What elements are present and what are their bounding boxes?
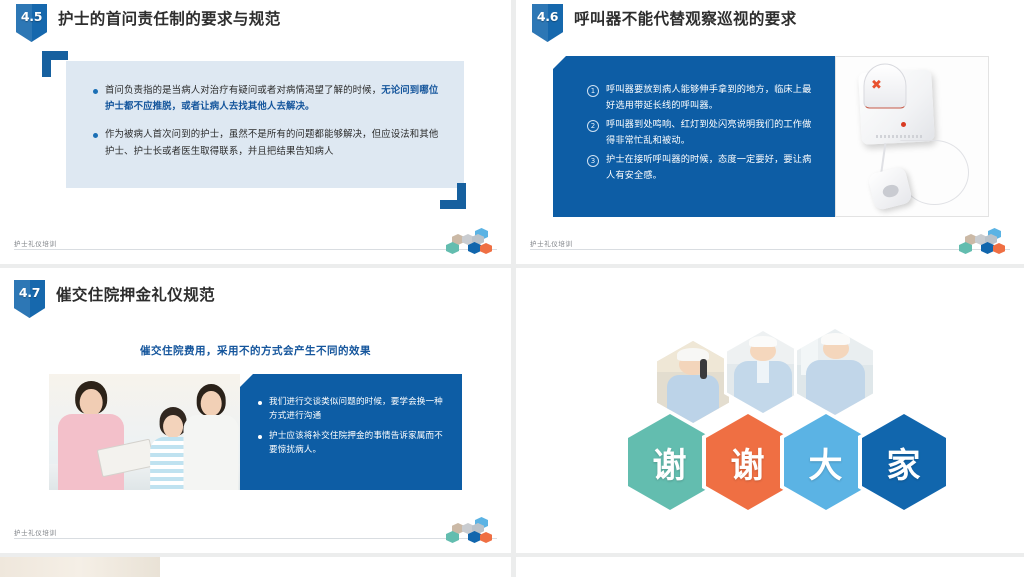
- list-item: 作为被病人首次问到的护士，虽然不是所有的问题都能够解决，但应设法和其他护士、护士…: [92, 127, 440, 159]
- corner-fold-decoration: [553, 56, 566, 69]
- thanks-hex-char: 谢: [706, 414, 790, 510]
- thanks-hex-char: 家: [862, 414, 946, 510]
- corner-bracket-top-left: [42, 51, 68, 77]
- bullet-list: 首问负责指的是当病人对治疗有疑问或者对病情渴望了解的时候，无论问到哪位护士都不应…: [92, 83, 440, 172]
- page-title: 呼叫器不能代替观察巡视的要求: [574, 7, 797, 29]
- slide-4-7[interactable]: 4.7 催交住院押金礼仪规范 催交住院费用，采用不的方式会产生不同的效果: [0, 268, 511, 553]
- thanks-hex-4: 家: [858, 410, 950, 514]
- slide-4-6[interactable]: 4.6 呼叫器不能代替观察巡视的要求 呼叫器要放到病人能够伸手拿到的地方，临床上…: [516, 0, 1024, 264]
- numbered-panel: 呼叫器要放到病人能够伸手拿到的地方，临床上最好选用带延长线的呼叫器。 呼叫器到处…: [553, 56, 835, 217]
- list-item: 护士在接听呼叫器的时候，态度一定要好，要让病人有安全感。: [587, 152, 817, 184]
- page-title: 催交住院押金礼仪规范: [56, 283, 215, 305]
- advice-panel: 我们进行交谈类似问题的时候，要学会换一种方式进行沟通 护士应该将补交住院押金的事…: [240, 374, 462, 490]
- preview-thumbnail: [0, 557, 160, 577]
- footer-divider: [14, 538, 497, 539]
- bullet-lead: 首问负责指的是当病人对治疗有疑问或者对病情渴望了解的时候，: [105, 85, 381, 96]
- bullet-list: 我们进行交谈类似问题的时候，要学会换一种方式进行沟通 护士应该将补交住院押金的事…: [257, 396, 446, 464]
- mother-figure: [183, 383, 240, 490]
- slide-footer: 护士礼仪培训: [530, 234, 1010, 252]
- slide-footer: 护士礼仪培训: [14, 234, 497, 252]
- slide-gap-horizontal: [0, 264, 1024, 268]
- nurse-with-clipboard-photo: [794, 326, 876, 418]
- list-item: 呼叫器到处鸣响、红灯到处闪亮说明我们的工作做得非常忙乱和被动。: [587, 117, 817, 149]
- nurse-consulting-family-photo: [49, 374, 240, 490]
- brand-logo: [445, 517, 497, 545]
- slide-number-text: 4.5: [16, 9, 47, 24]
- footer-label: 护士礼仪培训: [530, 238, 573, 248]
- thanks-hex-char: 大: [784, 414, 868, 510]
- slide-gap-vertical: [511, 0, 516, 577]
- slide-number-badge: 4.7: [14, 280, 45, 318]
- page-title: 护士的首问责任制的要求与规范: [58, 7, 281, 29]
- slide-4-5[interactable]: 4.5 护士的首问责任制的要求与规范 首问负责指的是当病人对治疗有疑问或者对病情…: [0, 0, 511, 264]
- device-illustration: ✖: [836, 57, 988, 216]
- consult-illustration: [49, 374, 240, 490]
- brand-logo: [958, 228, 1010, 256]
- info-panel: 首问负责指的是当病人对治疗有疑问或者对病情渴望了解的时候，无论问到哪位护士都不应…: [66, 61, 464, 188]
- slide-4-7-header: 4.7 催交住院押金礼仪规范: [14, 280, 215, 318]
- list-item: 首问负责指的是当病人对治疗有疑问或者对病情渴望了解的时候，无论问到哪位护士都不应…: [92, 83, 440, 115]
- section-subheading: 催交住院费用，采用不的方式会产生不同的效果: [0, 343, 511, 358]
- preview-gap: [511, 557, 516, 577]
- footer-divider: [14, 249, 497, 250]
- corner-bracket-bottom-right: [440, 183, 466, 209]
- thanks-hex-char: 谢: [628, 414, 712, 510]
- list-item: 呼叫器要放到病人能够伸手拿到的地方，临床上最好选用带延长线的呼叫器。: [587, 82, 817, 114]
- slide-number-text: 4.7: [14, 285, 45, 300]
- bullet-lead: 作为被病人首次问到的护士，虽然不是所有的问题都能够解决，但应设法和其他护士、护士…: [105, 129, 438, 156]
- slide-thank-you[interactable]: 谢 谢 大 家: [516, 268, 1024, 553]
- slide-deck-canvas: 4.5 护士的首问责任制的要求与规范 首问负责指的是当病人对治疗有疑问或者对病情…: [0, 0, 1024, 577]
- footer-label: 护士礼仪培训: [14, 238, 57, 248]
- nurse-call-device-photo: ✖: [835, 56, 989, 217]
- slide-number-text: 4.6: [532, 9, 563, 24]
- footer-label: 护士礼仪培训: [14, 527, 57, 537]
- list-item: 我们进行交谈类似问题的时候，要学会换一种方式进行沟通: [257, 396, 446, 424]
- nurse-standing-photo: [724, 328, 802, 416]
- corner-fold-decoration: [240, 374, 253, 387]
- slide-4-6-header: 4.6 呼叫器不能代替观察巡视的要求: [532, 4, 797, 42]
- footer-divider: [530, 249, 1010, 250]
- slide-number-badge: 4.5: [16, 4, 47, 42]
- slide-4-5-header: 4.5 护士的首问责任制的要求与规范: [16, 4, 281, 42]
- slide-number-badge: 4.6: [532, 4, 563, 42]
- numbered-list: 呼叫器要放到病人能够伸手拿到的地方，临床上最好选用带延长线的呼叫器。 呼叫器到处…: [587, 82, 817, 188]
- slide-footer: 护士礼仪培训: [14, 523, 497, 541]
- list-item: 护士应该将补交住院押金的事情告诉家属而不要惊扰病人。: [257, 430, 446, 458]
- brand-logo: [445, 228, 497, 256]
- next-slide-preview-strip[interactable]: [0, 557, 1024, 577]
